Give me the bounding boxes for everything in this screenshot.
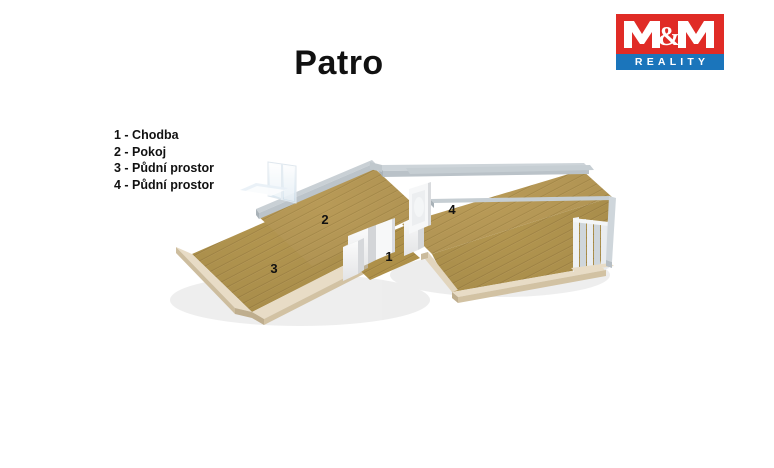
- room-label-3: 3: [270, 261, 277, 276]
- floorplan-page: Patro & REALITY 1 - Chodba 2 - Pokoj 3 -…: [0, 0, 774, 468]
- room-label-2: 2: [321, 212, 328, 227]
- room-4-rear-wall: [404, 165, 616, 200]
- window-left-upper: [240, 162, 296, 203]
- floorplan-drawing: 1 2 3 4: [0, 0, 774, 468]
- room-label-1: 1: [385, 249, 392, 264]
- room-label-4: 4: [448, 202, 456, 217]
